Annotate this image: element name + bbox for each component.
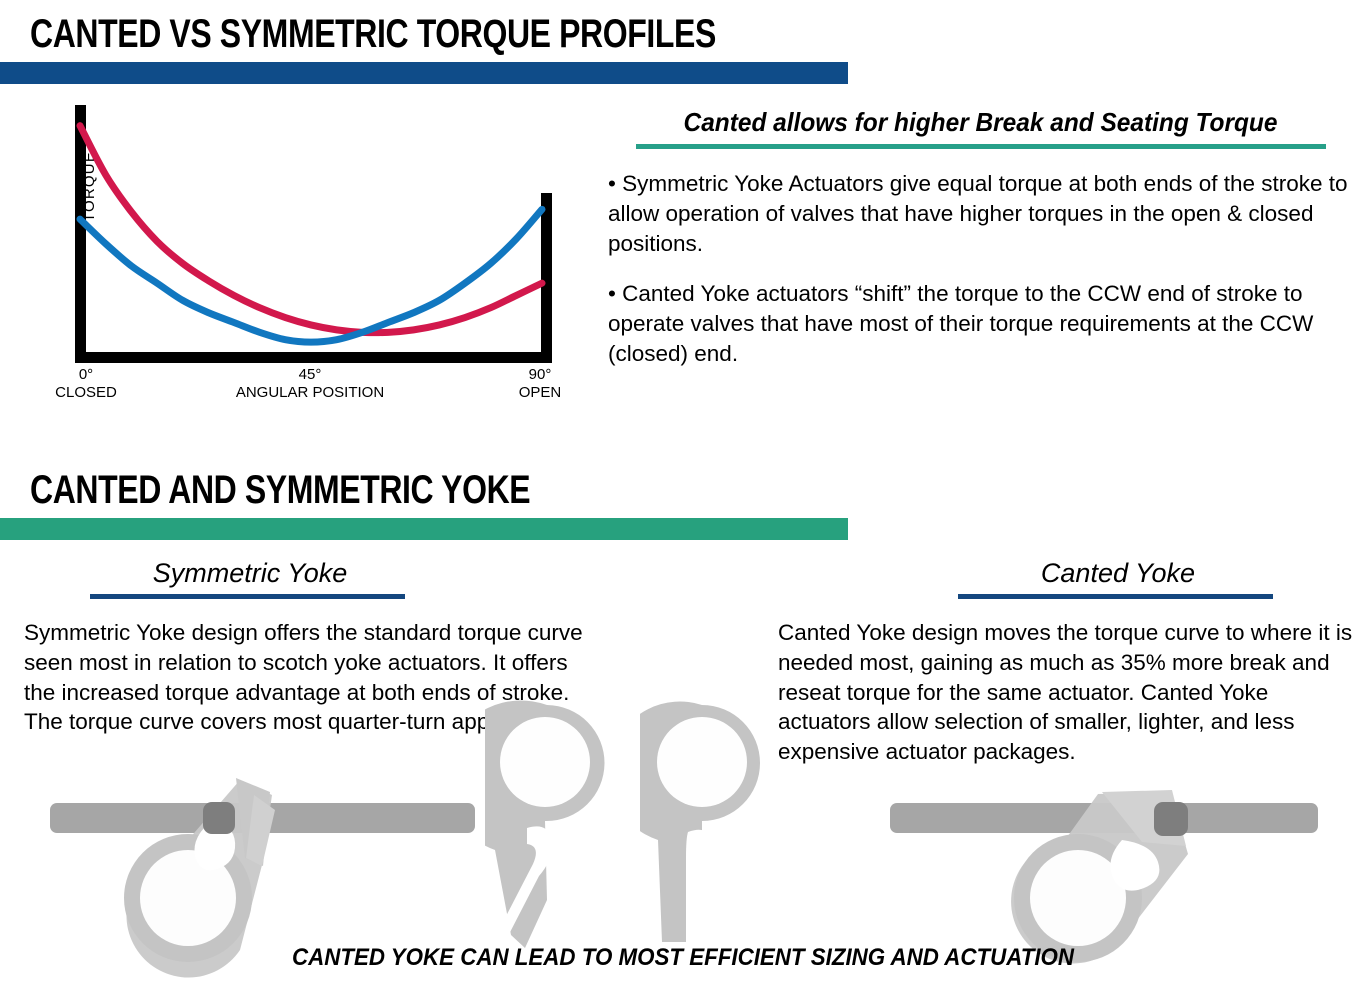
info-bullet-2: • Canted Yoke actuators “shift” the torq… — [608, 279, 1353, 369]
chart-plot-area: TORQUE — [60, 100, 580, 365]
info-panel-heading: Canted allows for higher Break and Seati… — [630, 108, 1330, 138]
info-bullet-1: • Symmetric Yoke Actuators give equal to… — [608, 169, 1353, 259]
top-section-bar — [0, 62, 848, 84]
canted-yoke-body: Canted Yoke design moves the torque curv… — [778, 618, 1353, 767]
bottom-section-title: CANTED AND SYMMETRIC YOKE — [30, 470, 530, 510]
series-canted-yoke-curve — [80, 126, 542, 333]
canted-yoke-plate-illustration — [485, 700, 610, 950]
bottom-section-bar — [0, 518, 848, 540]
symmetric-yoke-plate-slot — [686, 830, 718, 942]
symmetric-yoke-heading: Symmetric Yoke — [90, 558, 410, 589]
canted-yoke-plate-bore — [500, 717, 590, 807]
symmetric-yoke-rule — [90, 594, 405, 599]
slide-block — [203, 802, 235, 834]
torque-profile-chart: TORQUE 0° CLOSED 45° ANGULAR POSITION 90… — [0, 100, 600, 405]
info-panel: Canted allows for higher Break and Seati… — [608, 108, 1353, 368]
x-tick-open: 90° OPEN — [500, 366, 580, 401]
page-title: CANTED VS SYMMETRIC TORQUE PROFILES — [30, 14, 716, 54]
x-tick-mid: 45° ANGULAR POSITION — [180, 366, 440, 401]
infographic-page: CANTED VS SYMMETRIC TORQUE PROFILES TORQ… — [0, 0, 1366, 1000]
info-panel-rule — [636, 144, 1326, 149]
canted-yoke-heading: Canted Yoke — [958, 558, 1278, 589]
canted-yoke-rule — [958, 594, 1273, 599]
x-tick-closed: 0° CLOSED — [46, 366, 126, 401]
torque-curves — [60, 100, 580, 365]
symmetric-yoke-plate-bore — [657, 717, 747, 807]
slide-block — [1154, 802, 1188, 836]
bottom-caption: CANTED YOKE CAN LEAD TO MOST EFFICIENT S… — [48, 944, 1318, 972]
symmetric-yoke-plate-illustration — [640, 700, 765, 950]
